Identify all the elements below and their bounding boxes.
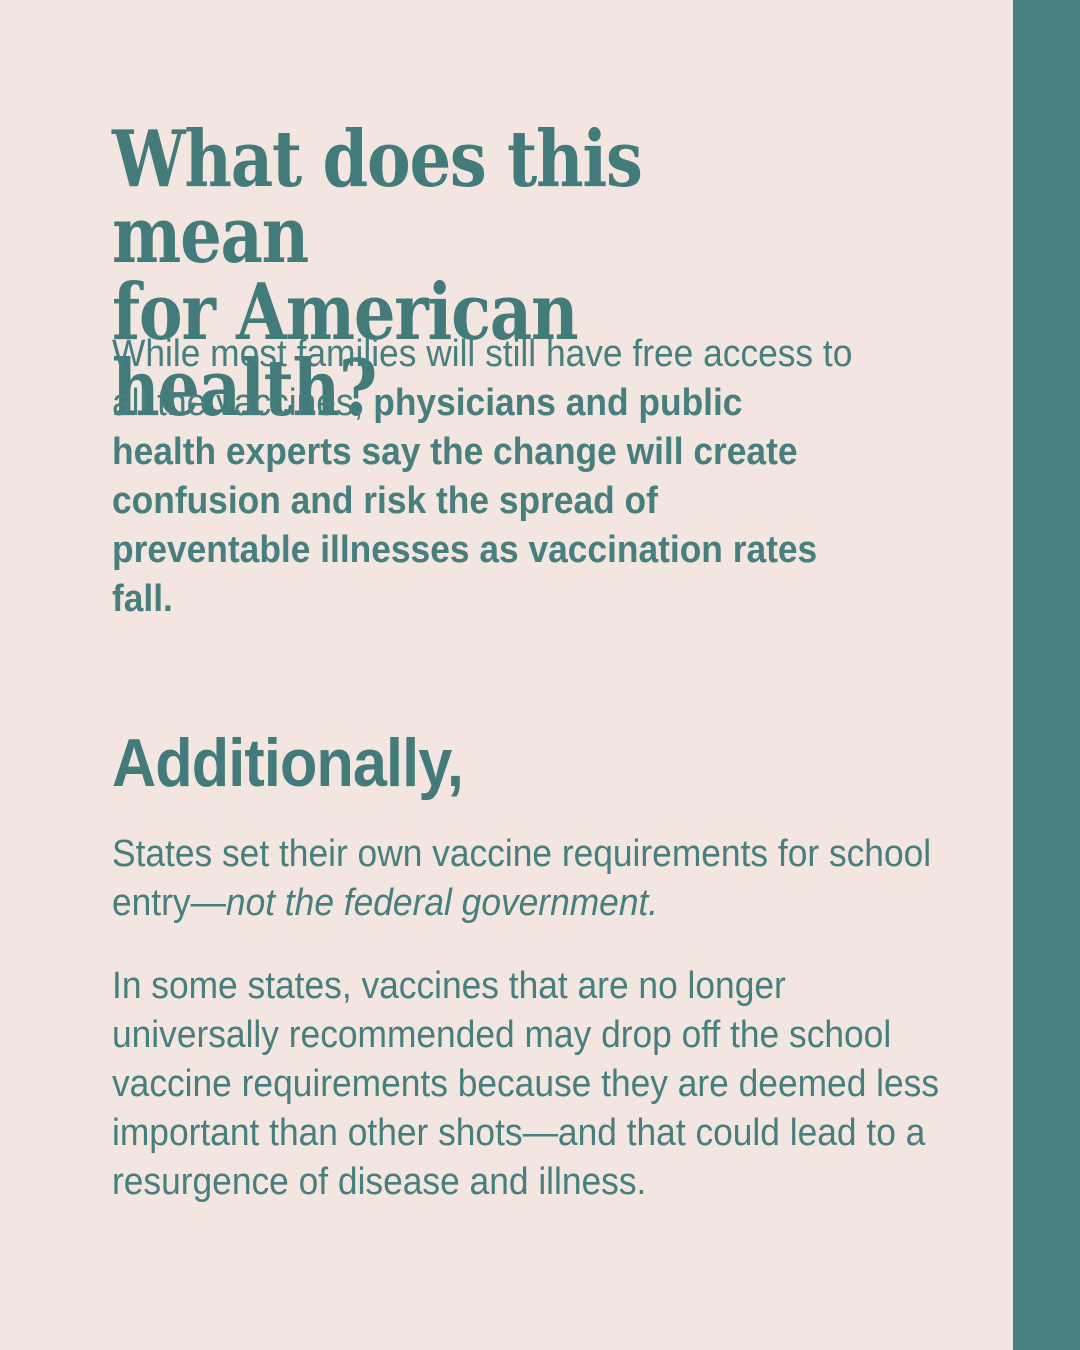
lede-paragraph: While most families will still have free… [112,330,856,624]
section-heading-additionally: Additionally, [112,729,463,797]
states-paragraph: States set their own vaccine requirement… [112,830,949,928]
slide-root: What does this mean for American health?… [0,0,1080,1350]
closing-paragraph: In some states, vaccines that are no lon… [112,962,949,1207]
content-column: What does this mean for American health?… [112,0,992,1350]
right-accent-bar [1013,0,1080,1350]
states-italic-text: not the federal government. [226,882,658,924]
